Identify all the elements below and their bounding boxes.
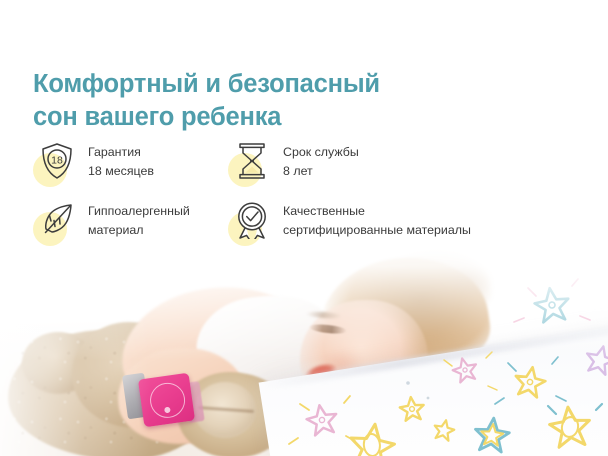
feature-lifespan-text: Срок службы 8 лет [283, 141, 359, 181]
award-check-icon [228, 200, 274, 246]
hourglass-icon [228, 141, 274, 187]
headline-line-1: Комфортный и безопасный [33, 70, 380, 98]
feature-hypoallergenic-line-1: Гиппоалергенный [88, 204, 190, 218]
promo-banner: Комфортный и безопасный сон вашего ребен… [0, 0, 608, 456]
feather-icon [33, 200, 79, 246]
feature-hypoallergenic-text: Гиппоалергенный материал [88, 200, 190, 240]
shield-badge-number: 18 [51, 154, 63, 166]
feature-hypoallergenic: Гиппоалергенный материал [33, 200, 228, 246]
headline: Комфортный и безопасный сон вашего ребен… [33, 68, 453, 134]
feature-hypoallergenic-line-2: материал [88, 221, 190, 240]
feature-warranty-text: Гарантия 18 месяцев [88, 141, 154, 181]
feature-warranty-line-1: Гарантия [88, 145, 141, 159]
feature-certified-text: Качественные сертифицированные материалы [283, 200, 471, 240]
feature-certified-line-1: Качественные [283, 204, 365, 218]
feature-warranty-line-2: 18 месяцев [88, 162, 154, 181]
feature-list: 18 Гарантия 18 месяцев [33, 141, 533, 246]
headline-line-2: сон вашего ребенка [33, 101, 453, 134]
feature-lifespan: Срок службы 8 лет [228, 141, 528, 187]
feature-warranty: 18 Гарантия 18 месяцев [33, 141, 228, 187]
feature-lifespan-line-2: 8 лет [283, 162, 359, 181]
feature-certified-line-2: сертифицированные материалы [283, 221, 471, 240]
feature-row-1: 18 Гарантия 18 месяцев [33, 141, 533, 187]
feature-row-2: Гиппоалергенный материал [33, 200, 533, 246]
feature-certified: Качественные сертифицированные материалы [228, 200, 528, 246]
shield-18-icon: 18 [33, 141, 79, 187]
feature-lifespan-line-1: Срок службы [283, 145, 359, 159]
banner-content: Комфортный и безопасный сон вашего ребен… [0, 0, 608, 456]
